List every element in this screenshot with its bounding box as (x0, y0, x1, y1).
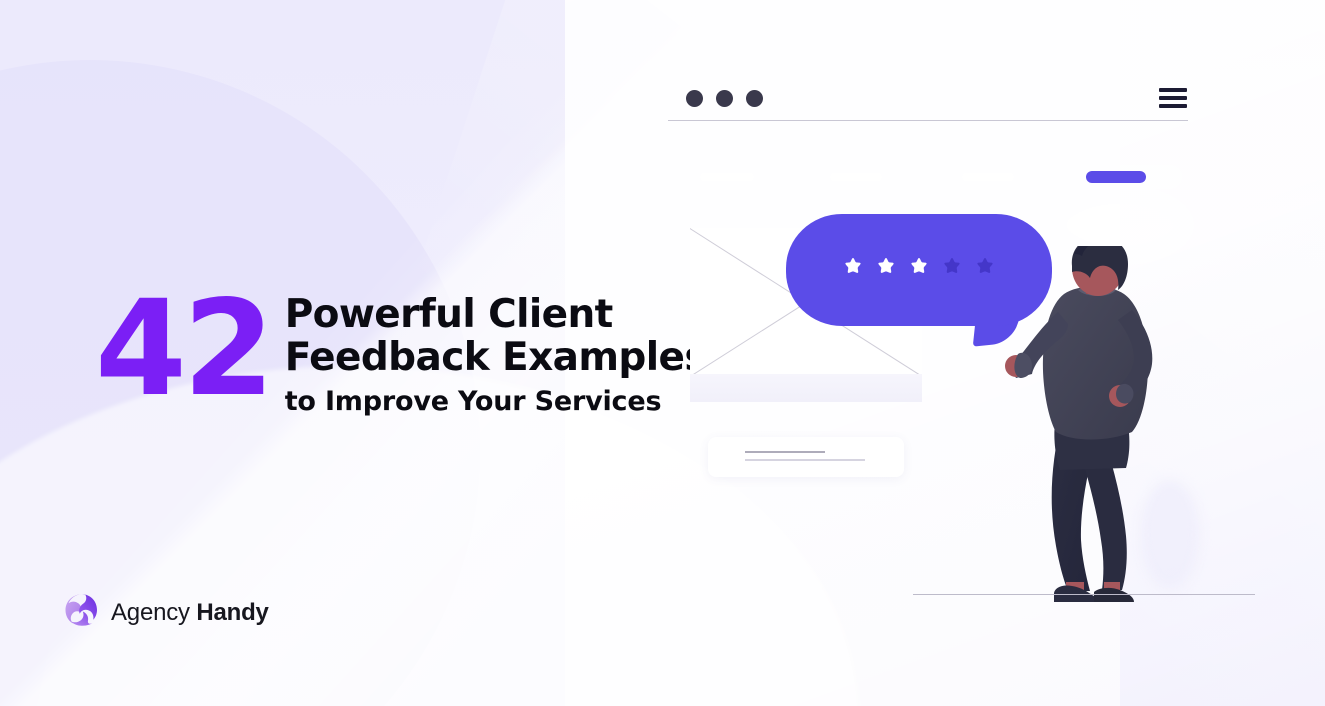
headline-line-2: Feedback Examples (285, 337, 707, 380)
agency-handy-swirl-logo-icon (64, 592, 100, 633)
nav-link-placeholder-2[interactable] (830, 173, 882, 181)
nav-link-placeholder-3[interactable] (962, 173, 1014, 181)
hamburger-bar-3 (1159, 104, 1187, 108)
star-icon-5-empty (971, 255, 999, 283)
nav-cta-button[interactable] (1086, 171, 1146, 183)
window-dot-close-icon[interactable] (686, 90, 703, 107)
headline-subtitle: to Improve Your Services (285, 386, 707, 417)
placeholder-line-1 (745, 451, 825, 453)
mock-navbar (682, 165, 1182, 189)
hamburger-menu-icon[interactable] (1159, 88, 1187, 108)
placeholder-line-2 (745, 459, 865, 461)
star-rating (839, 255, 999, 283)
headline-text-group: Powerful Client Feedback Examples to Imp… (285, 282, 707, 417)
brand-name-first: Agency (111, 599, 190, 626)
browser-window-mock (668, 88, 1188, 121)
ground-line (913, 594, 1255, 595)
placeholder-text-card (708, 437, 904, 477)
envelope-base-shadow (690, 374, 922, 402)
hamburger-bar-1 (1159, 88, 1187, 92)
star-icon-4-empty (938, 255, 966, 283)
headline-number: 42 (95, 294, 271, 405)
brand-logo-text: Agency Handy (111, 599, 269, 627)
window-control-dots (686, 90, 763, 107)
headline-line-1: Powerful Client (285, 294, 707, 337)
window-dot-minimize-icon[interactable] (716, 90, 733, 107)
star-icon-1-filled (839, 255, 867, 283)
browser-titlebar (668, 88, 1188, 121)
brand-name-second: Handy (196, 599, 268, 626)
standing-person-illustration (998, 246, 1188, 604)
star-icon-2-filled (872, 255, 900, 283)
headline-block: 42 Powerful Client Feedback Examples to … (95, 282, 695, 417)
hamburger-bar-2 (1159, 96, 1187, 100)
brand-logo[interactable]: Agency Handy (64, 592, 269, 633)
window-dot-maximize-icon[interactable] (746, 90, 763, 107)
star-icon-3-filled (905, 255, 933, 283)
nav-link-placeholder-1[interactable] (700, 173, 754, 181)
